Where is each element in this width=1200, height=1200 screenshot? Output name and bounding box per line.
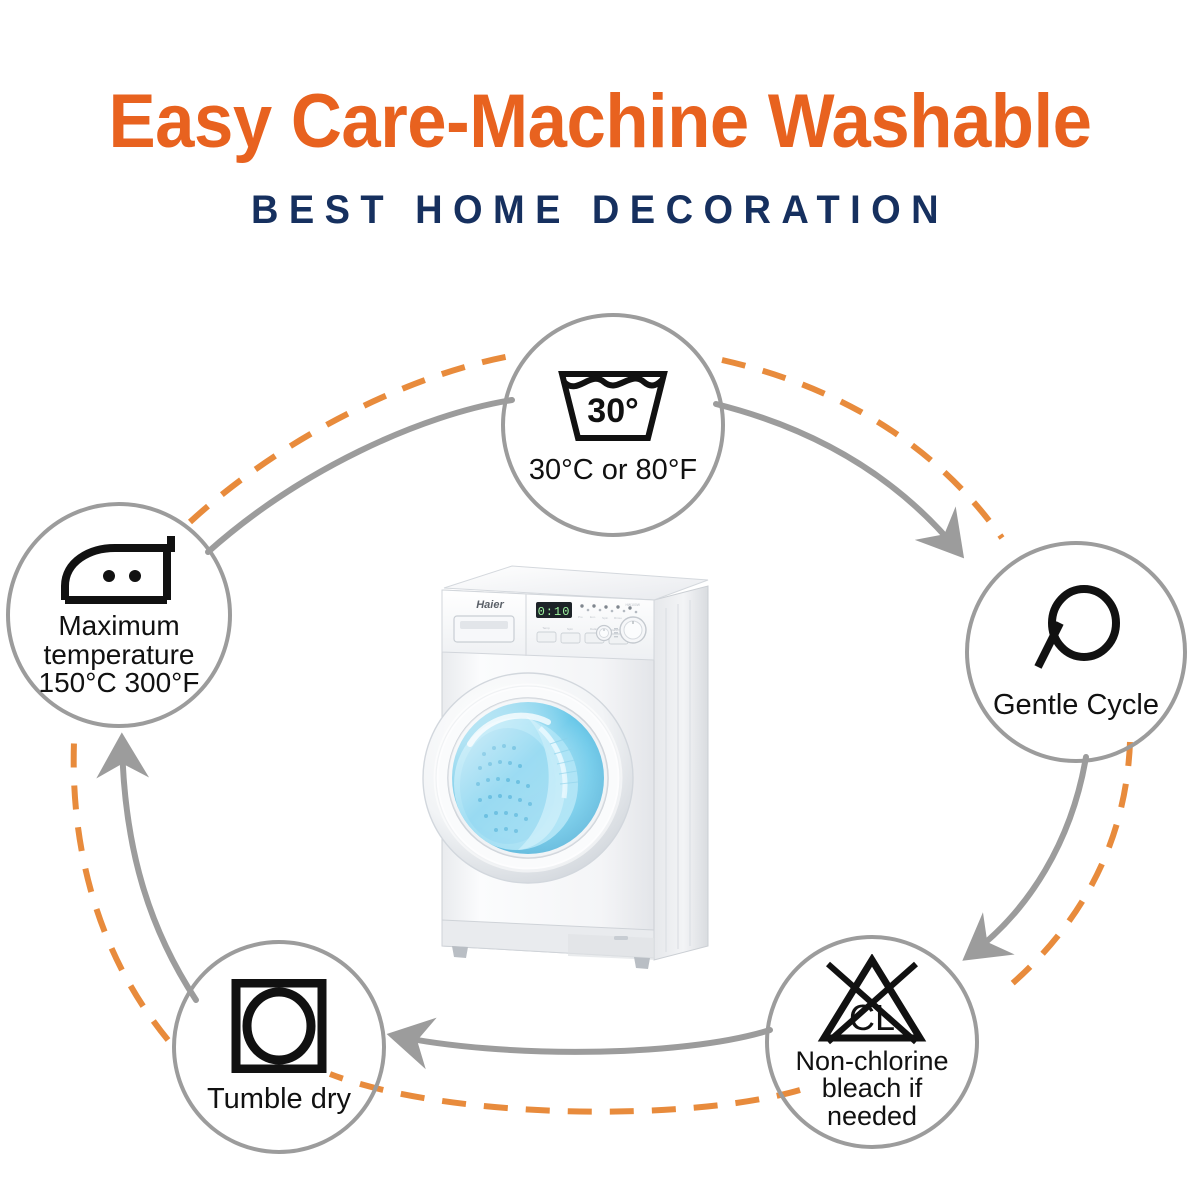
connector-wash-to-gentle-dashed [722, 360, 1002, 538]
svg-text:Pre: Pre [578, 615, 583, 619]
node-iron-temperature[interactable]: Maximum temperature 150°C 300°F [6, 502, 232, 728]
connector-iron-to-wash-dashed [190, 355, 516, 522]
iron-two-dots-icon [59, 532, 179, 608]
connector-tumble-to-iron-dashed [74, 742, 168, 1040]
gentle-cycle-icon [1024, 583, 1128, 679]
connector-bleach-to-tumble [396, 1030, 770, 1052]
connector-gentle-to-bleach [970, 757, 1086, 955]
washing-machine-image: Haier 0:10 PreEco SpinRinse Temp HW100W [408, 548, 748, 998]
connector-tumble-to-iron [122, 742, 196, 1000]
node-bleach[interactable]: CL Non-chlorine bleach if needed [765, 935, 979, 1149]
wash-tub-30-icon: 30° [554, 364, 672, 448]
digital-display: 0:10 [538, 605, 571, 619]
connector-bleach-to-tumble-dashed [330, 1074, 800, 1112]
node-gentle-label: Gentle Cycle [993, 691, 1159, 721]
tumble-dry-icon [230, 979, 328, 1073]
connector-iron-to-wash [208, 400, 512, 552]
node-tumble-dry[interactable]: Tumble dry [172, 940, 386, 1154]
brand-label: Haier [476, 599, 504, 611]
connector-gentle-to-bleach-dashed [1000, 742, 1130, 994]
node-bleach-label: Non-chlorine bleach if needed [795, 1048, 948, 1131]
node-wash-temperature[interactable]: 30° 30°C or 80°F [501, 313, 725, 537]
node-wash-label: 30°C or 80°F [529, 456, 697, 486]
no-chlorine-bleach-icon: CL [816, 954, 928, 1046]
svg-text:Rinse: Rinse [614, 616, 622, 620]
node-iron-label: Maximum temperature 150°C 300°F [39, 612, 200, 698]
svg-text:Spin: Spin [602, 616, 608, 620]
svg-text:Eco: Eco [590, 615, 596, 619]
node-gentle-cycle[interactable]: Gentle Cycle [965, 541, 1187, 763]
wash-tub-temp-text: 30° [587, 392, 638, 430]
svg-text:Spin: Spin [567, 627, 573, 631]
poster-canvas: Easy Care-Machine Washable BEST HOME DEC… [0, 0, 1200, 1200]
model-code: HW100W [625, 603, 640, 607]
connector-wash-to-gentle [716, 404, 958, 551]
node-tumble-label: Tumble dry [207, 1085, 351, 1115]
svg-text:Temp: Temp [542, 626, 550, 630]
